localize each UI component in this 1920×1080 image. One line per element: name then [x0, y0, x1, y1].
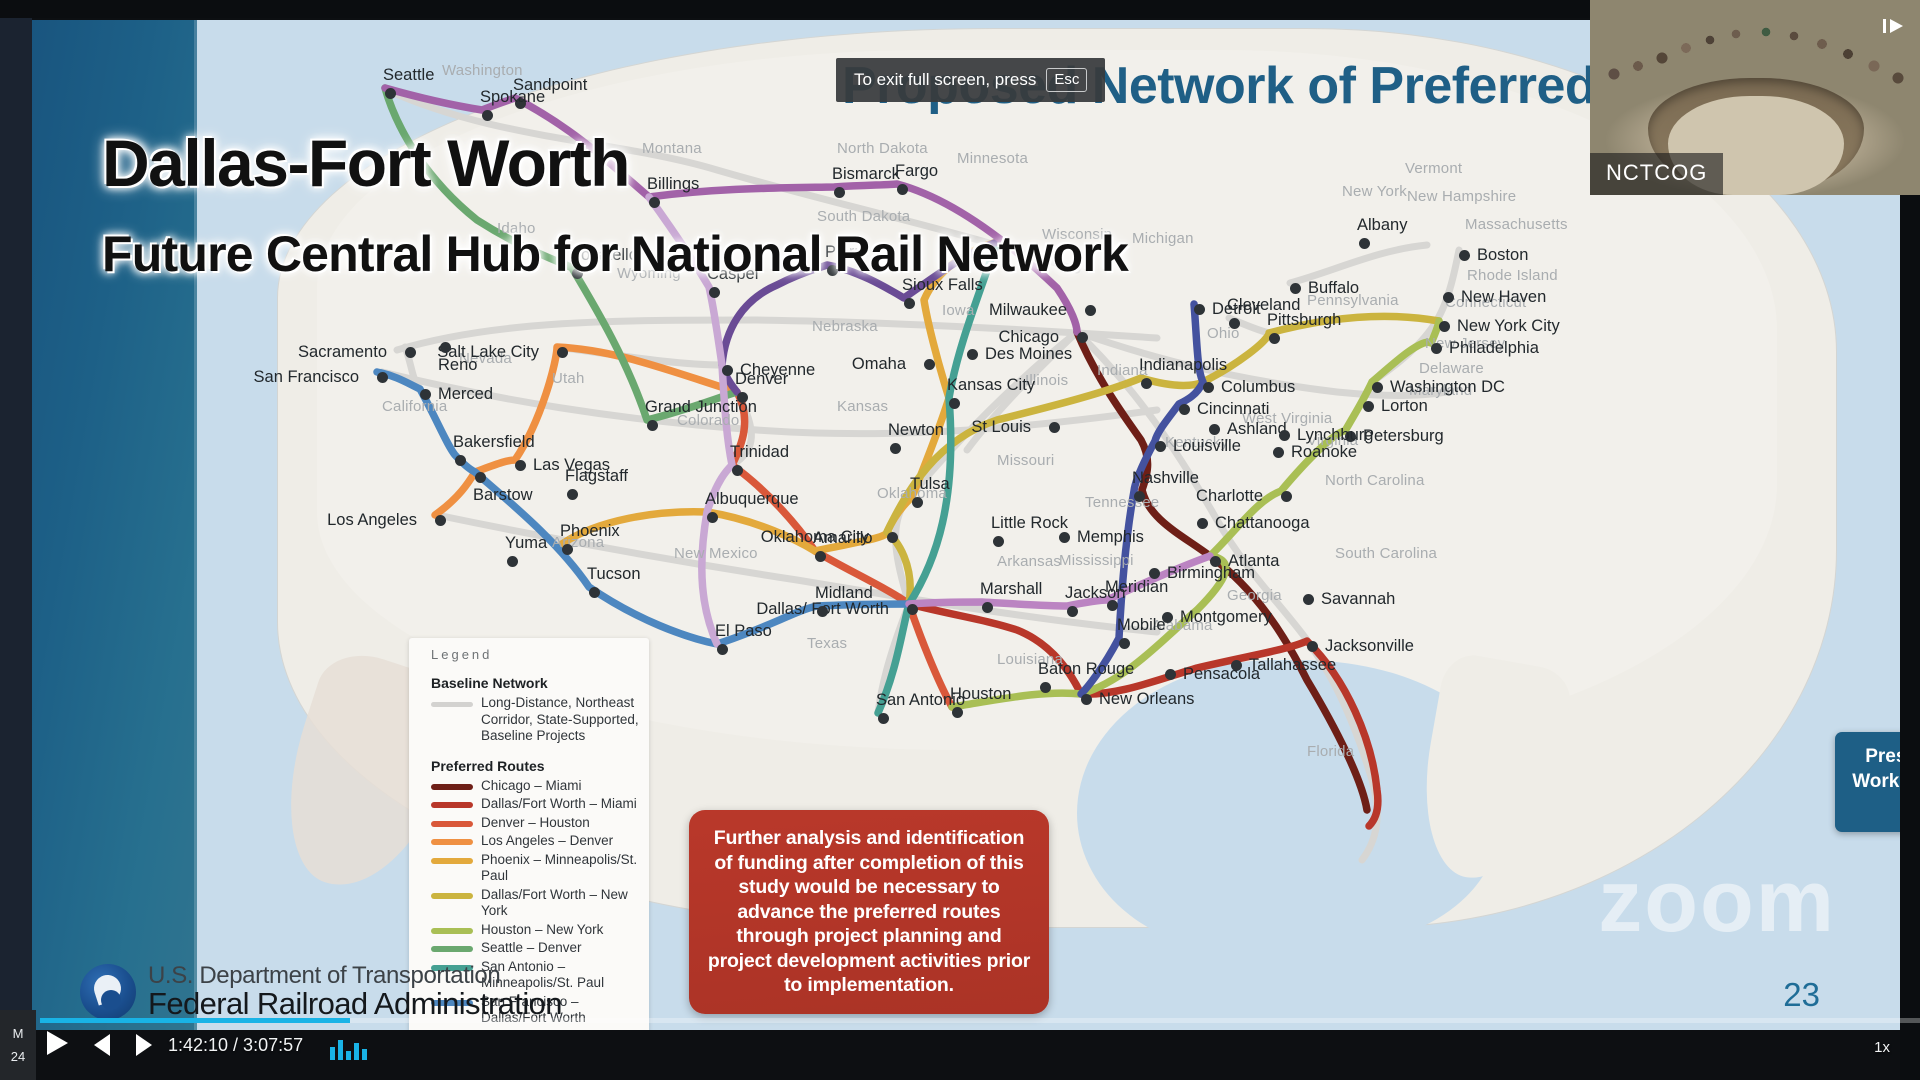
legend-swatch-baseline [431, 702, 473, 707]
legend-swatch [431, 928, 473, 934]
legend-route-row: Dallas/Fort Worth – Miami [409, 795, 649, 814]
footnote-line-1: *Potentially 6 new long-distance routes … [957, 1025, 1817, 1030]
left-rail [0, 18, 32, 1080]
legend-route-label: Dallas/Fort Worth – New York [481, 887, 643, 920]
legend-route-label: Dallas/Fort Worth – Miami [481, 796, 637, 813]
slide-title-line2: Future Central Hub for National Rail Net… [102, 225, 1128, 283]
seated-attendees [1590, 22, 1920, 114]
legend-route-label: Phoenix – Minneapolis/St. Paul [481, 852, 643, 885]
slide-footnote: *Potentially 6 new long-distance routes … [957, 1025, 1817, 1030]
dot-fra-branding: U.S. Department of Transportation Federa… [80, 962, 562, 1022]
play-icon[interactable] [44, 1029, 70, 1062]
legend-route-label: Chicago – Miami [481, 778, 582, 795]
participant-video-tile[interactable]: NCTCOG [1590, 0, 1920, 195]
fullscreen-hint-text: To exit full screen, press [854, 70, 1036, 90]
analysis-callout-box: Further analysis and identification of f… [689, 810, 1049, 1014]
legend-route-row: Seattle – Denver [409, 939, 649, 958]
zoom-video-player: WashingtonMontanaNorth DakotaMinnesotaWi… [0, 0, 1920, 1080]
legend-route-row: Houston – New York [409, 921, 649, 940]
legend-swatch [431, 821, 473, 827]
legend-route-row: Dallas/Fort Worth – New York [409, 886, 649, 921]
legend-route-label: Denver – Houston [481, 815, 590, 832]
legend-baseline-label: Long-Distance, Northeast Corridor, State… [481, 695, 643, 745]
slide-title-line1: Dallas-Fort Worth [102, 125, 629, 201]
fullscreen-hint-toast: To exit full screen, press Esc [836, 58, 1105, 102]
legend-swatch [431, 946, 473, 952]
playback-time: 1:42:10 / 3:07:57 [168, 1035, 303, 1056]
legend-route-row: Detroit – New Orleans [409, 1028, 649, 1031]
legend-swatch [431, 858, 473, 864]
legend-swatch [431, 839, 473, 845]
legend-route-row: Denver – Houston [409, 814, 649, 833]
legend-route-row: Phoenix – Minneapolis/St. Paul [409, 851, 649, 886]
tile-play-icon[interactable] [1880, 16, 1906, 47]
next-icon[interactable] [132, 1031, 158, 1064]
legend-route-label: Detroit – New Orleans [481, 1029, 614, 1031]
playback-speed: 1x [1874, 1039, 1890, 1056]
legend-preferred-heading: Preferred Routes [409, 746, 649, 777]
legend-route-label: Houston – New York [481, 922, 603, 939]
legend-swatch [431, 802, 473, 808]
brand-line-2: Federal Railroad Administration [148, 986, 562, 1022]
legend-title: Legend [409, 638, 649, 669]
presented-at-box: Presented at Regional Working Group Meet… [1835, 732, 1900, 832]
legend-swatch [431, 893, 473, 899]
legend-baseline-row: Long-Distance, Northeast Corridor, State… [409, 694, 649, 746]
audio-level-indicator [330, 1040, 367, 1060]
dot-seal-icon [80, 964, 136, 1020]
legend-route-label: Los Angeles – Denver [481, 833, 613, 850]
legend-route-label: Seattle – Denver [481, 940, 582, 957]
legend-swatch [431, 784, 473, 790]
esc-key-badge: Esc [1046, 68, 1087, 92]
brand-text: U.S. Department of Transportation Federa… [148, 962, 562, 1022]
slide-number: 23 [1783, 976, 1820, 1014]
legend-route-row: Los Angeles – Denver [409, 832, 649, 851]
legend-baseline-heading: Baseline Network [409, 669, 649, 694]
legend-route-row: Chicago – Miami [409, 777, 649, 796]
previous-icon[interactable] [88, 1031, 114, 1064]
participant-name: NCTCOG [1590, 153, 1723, 195]
